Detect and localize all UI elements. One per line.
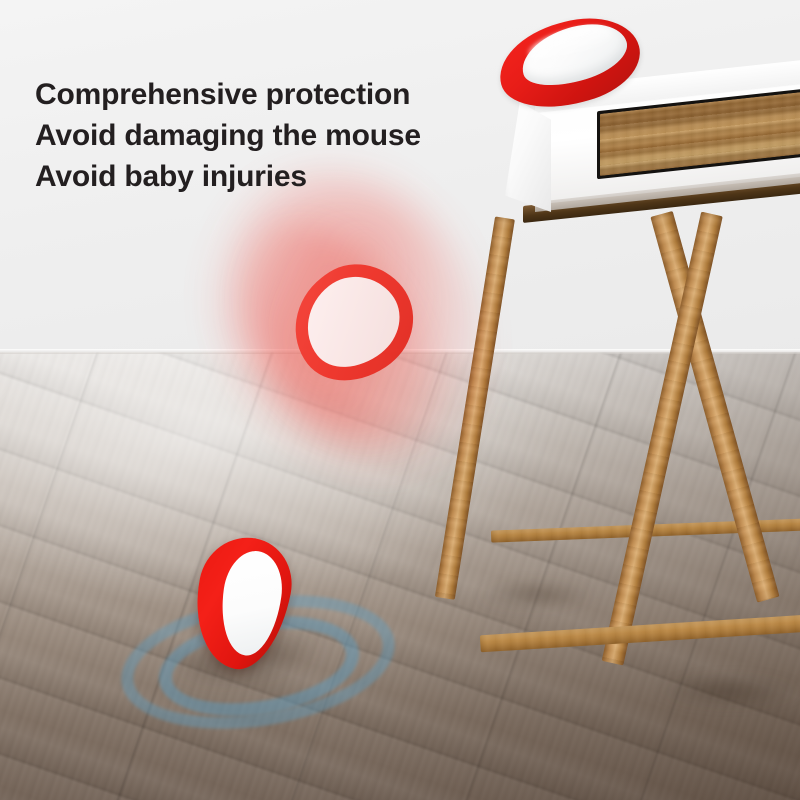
trestle-desk (505, 14, 800, 794)
product-scene: Comprehensive protection Avoid damaging … (0, 0, 800, 800)
headline-line-2: Avoid damaging the mouse (35, 115, 465, 156)
leg-shadow-center (655, 674, 800, 708)
desk-brace-front (480, 613, 800, 653)
leg-shadow-left (475, 580, 595, 610)
headline-block: Comprehensive protection Avoid damaging … (35, 74, 465, 197)
leg-shadow-right (795, 534, 800, 562)
headline-line-3: Avoid baby injuries (35, 156, 465, 197)
headline-line-1: Comprehensive protection (35, 74, 465, 115)
desk-leg-front-right (602, 212, 723, 666)
